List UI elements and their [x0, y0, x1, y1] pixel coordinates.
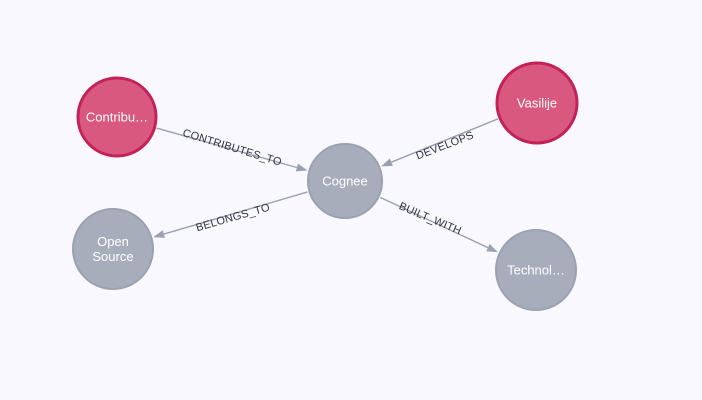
edge-label-built_with: BUILT_WITH: [397, 200, 463, 237]
edge-arrowhead-icon: [296, 164, 308, 172]
graph-visualization[interactable]: CONTRIBUTES_TODEVELOPSBELONGS_TOBUILT_WI…: [0, 0, 702, 400]
edge-arrowhead-icon: [381, 158, 393, 166]
edge-label-contributes_to: CONTRIBUTES_TO: [181, 127, 283, 169]
node-label: Open: [97, 234, 129, 249]
node-label: Cognee: [322, 174, 368, 189]
node-label: Contribu…: [86, 110, 148, 125]
edge-arrowhead-icon: [153, 230, 165, 238]
nodes-layer: Contribu…VasilijeCogneeOpenSourceTechnol…: [73, 63, 577, 310]
edge-label-belongs_to: BELONGS_TO: [195, 202, 272, 235]
edge-arrowhead-icon: [486, 244, 498, 252]
graph-node-vasilije[interactable]: Vasilije: [497, 63, 577, 143]
graph-node-cognee[interactable]: Cognee: [308, 144, 382, 218]
node-label: Vasilije: [517, 96, 557, 111]
graph-node-contributor[interactable]: Contribu…: [78, 78, 156, 156]
graph-canvas[interactable]: CONTRIBUTES_TODEVELOPSBELONGS_TOBUILT_WI…: [0, 0, 702, 400]
edge-label-develops: DEVELOPS: [414, 129, 475, 162]
node-label: Source: [92, 249, 133, 264]
graph-node-open_source[interactable]: OpenSource: [73, 209, 153, 289]
graph-node-technology[interactable]: Technol…: [496, 230, 576, 310]
node-label: Technol…: [507, 263, 565, 278]
